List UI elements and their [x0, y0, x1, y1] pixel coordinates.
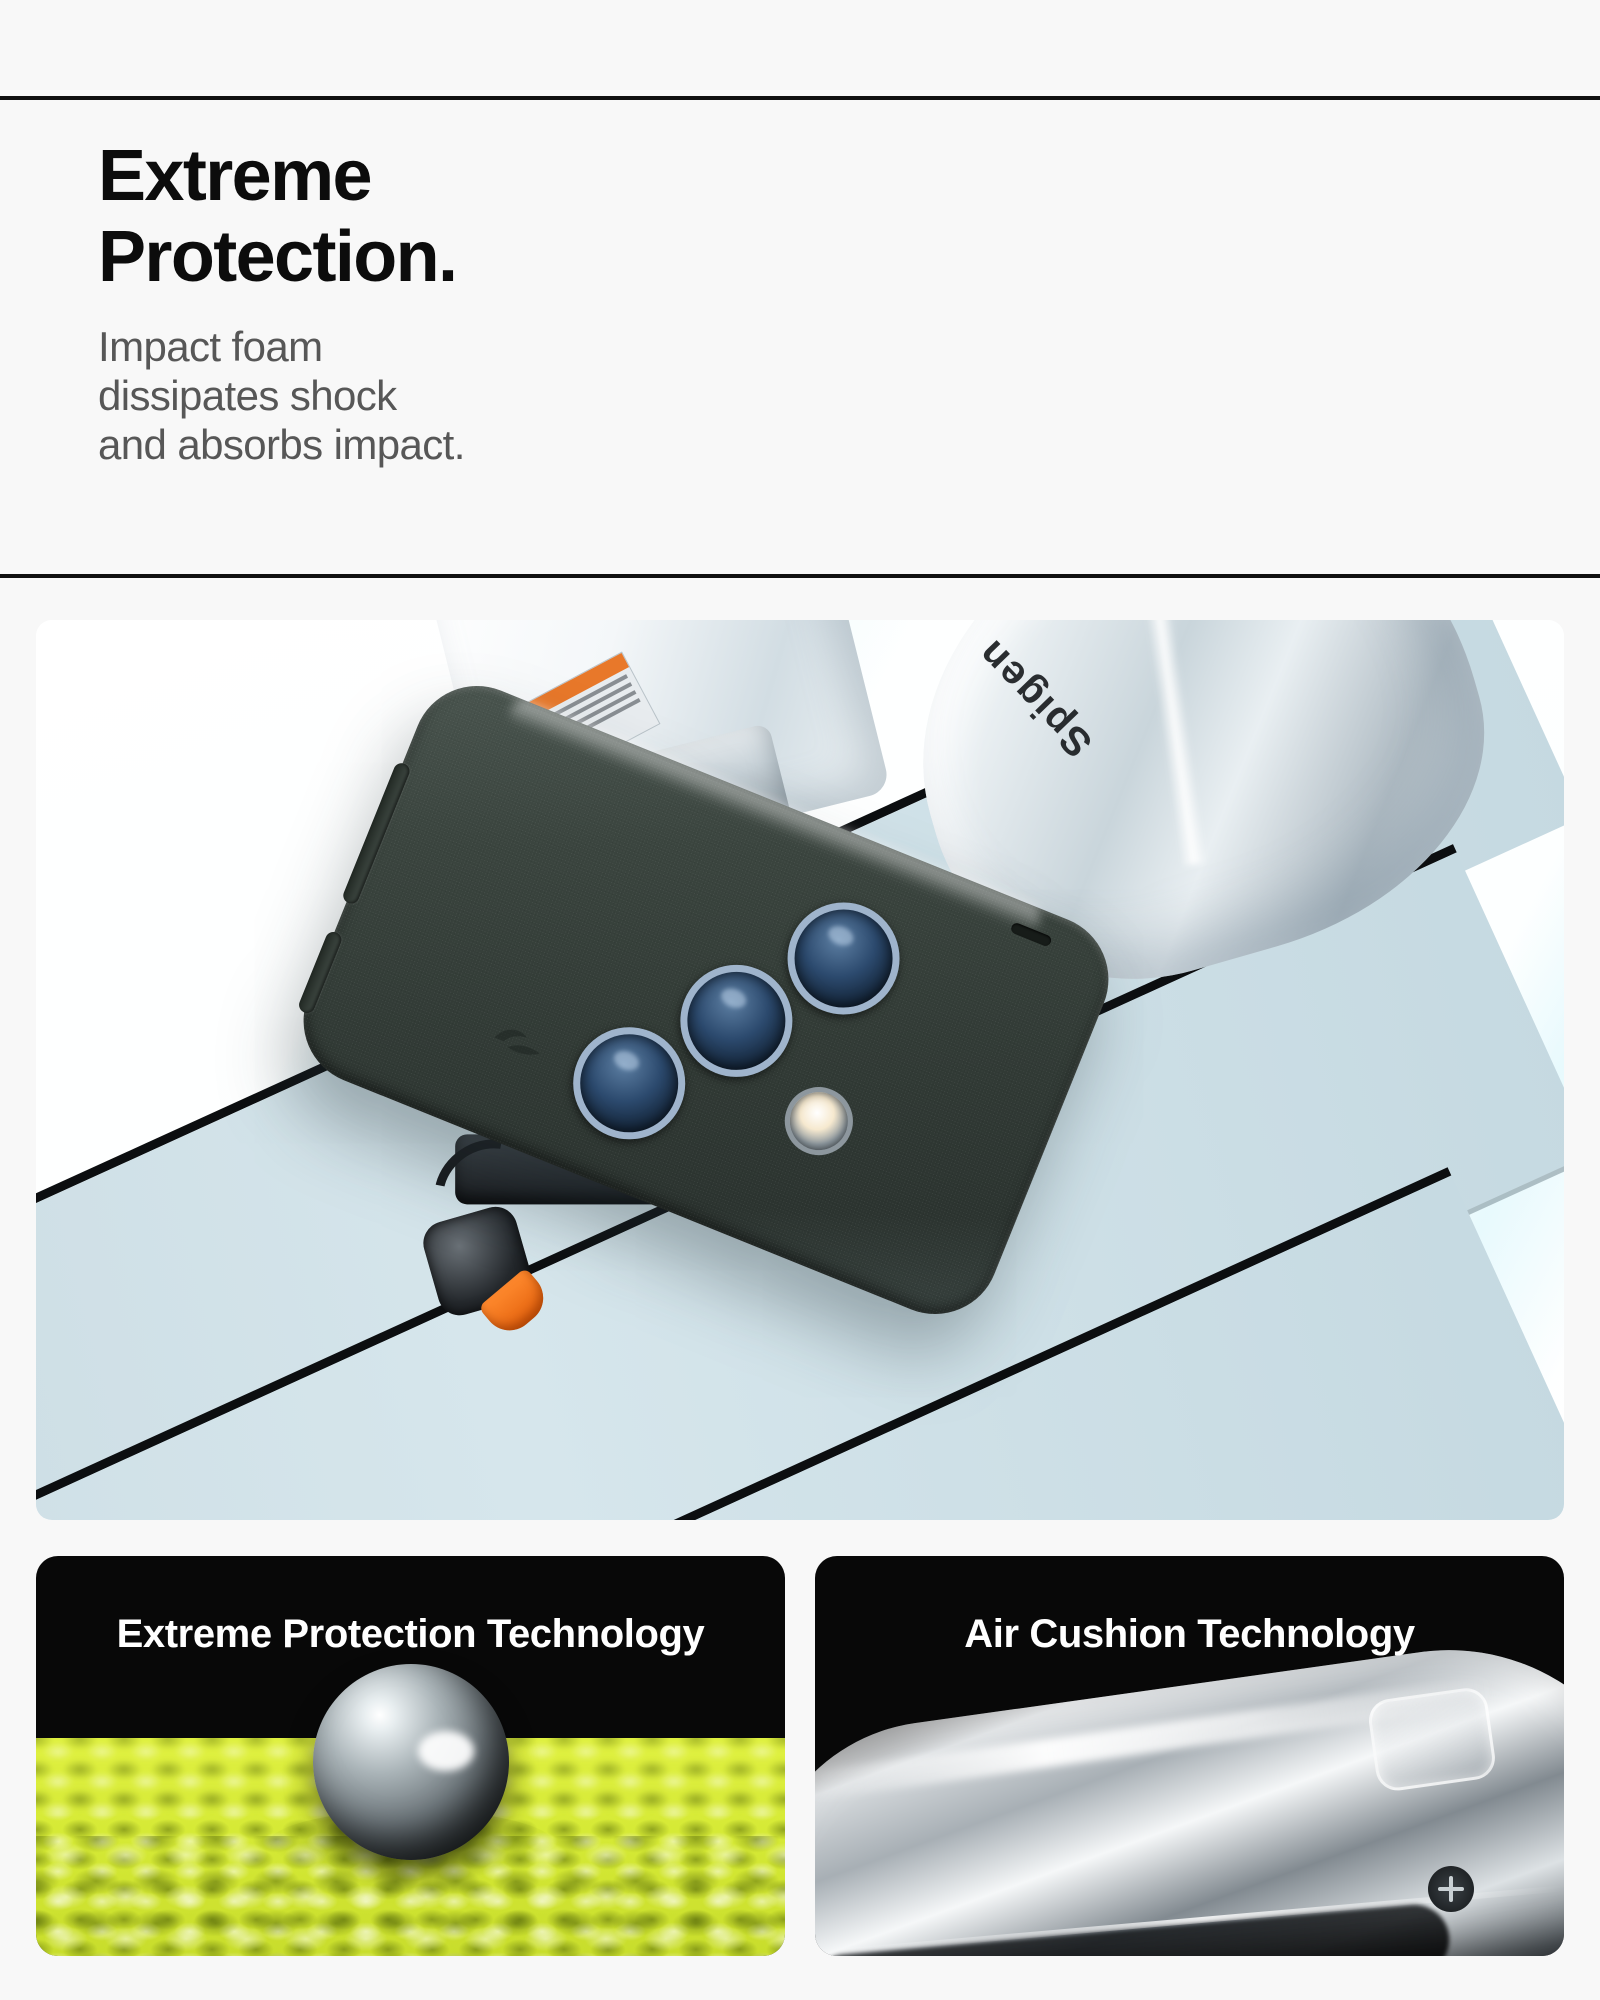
product-feature-page: Extreme Protection. Impact foam dissipat…: [0, 0, 1600, 2000]
air-cushion-technology-card[interactable]: Air Cushion Technology: [815, 1556, 1564, 1956]
steel-ball: [313, 1664, 509, 1860]
extreme-protection-technology-card[interactable]: Extreme Protection Technology: [36, 1556, 785, 1956]
page-title: Extreme Protection.: [98, 136, 858, 297]
feature-card-row: Extreme Protection Technology Air Cushio…: [36, 1556, 1564, 1956]
card-title: Extreme Protection Technology: [36, 1612, 785, 1657]
divider-bottom: [0, 574, 1600, 578]
page-subtitle: Impact foam dissipates shock and absorbs…: [98, 323, 858, 469]
arm-highlight: [1136, 620, 1208, 866]
headline-block: Extreme Protection. Impact foam dissipat…: [98, 136, 858, 469]
cushion-shadow: [815, 1902, 1452, 1956]
card-title: Air Cushion Technology: [815, 1612, 1564, 1657]
spigen-brand-text: Spigen: [968, 630, 1101, 766]
charging-port-icon: [1428, 1866, 1474, 1912]
divider-top: [0, 96, 1600, 100]
air-chamber: [1366, 1685, 1498, 1793]
hero-image: Spigen: [36, 620, 1564, 1520]
